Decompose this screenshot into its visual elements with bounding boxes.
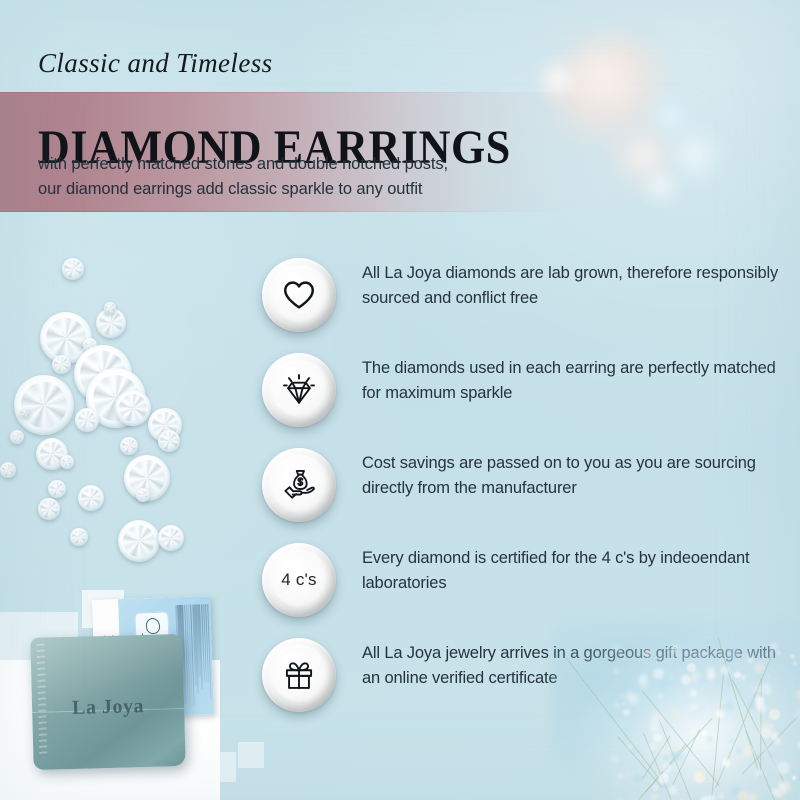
flower-blossom	[745, 749, 751, 755]
flower-blossom	[744, 747, 752, 755]
diamond-sparkle-icon	[279, 370, 319, 410]
flower-blossom	[657, 791, 667, 800]
flower-blossom	[673, 745, 679, 751]
flower-blossom	[660, 783, 667, 790]
flower-blossom	[796, 690, 800, 698]
flower-blossom	[746, 793, 758, 800]
flower-blossom	[755, 754, 761, 760]
flower-blossom	[693, 771, 705, 783]
band-bottom-edge	[0, 211, 520, 212]
flower-blossom	[774, 738, 781, 745]
flower-blossom	[709, 795, 715, 800]
four-cs-label: 4 c's	[281, 570, 316, 590]
gift-box-icon-badge	[262, 638, 336, 712]
flower-blossom	[616, 778, 621, 783]
diamond-gem-icon	[158, 525, 184, 551]
feature-text: All La Joya jewelry arrives in a gorgeou…	[362, 641, 782, 691]
flower-blossom	[794, 709, 800, 720]
flower-blossom	[772, 788, 780, 796]
heart-icon-badge	[262, 258, 336, 332]
flower-blossom	[757, 794, 761, 798]
diamond-gem-icon	[20, 408, 30, 418]
feature-row: 4 c's Every diamond is certified for the…	[262, 540, 792, 635]
flower-blossom	[660, 748, 666, 754]
diamond-gem-icon	[104, 302, 116, 314]
flower-stem	[646, 743, 687, 792]
flower-blossom	[701, 730, 706, 735]
flower-blossom	[777, 762, 789, 774]
diamond-gem-icon	[136, 488, 150, 502]
diamond-sparkle-icon-badge	[262, 353, 336, 427]
flower-blossom	[695, 773, 705, 783]
flower-stem	[745, 730, 777, 800]
flower-blossom	[699, 772, 705, 778]
flower-blossom	[633, 773, 643, 783]
diamond-gem-icon	[118, 520, 160, 562]
flower-blossom	[792, 776, 796, 780]
subtitle-line-1: with perfectly matched stones and double…	[38, 155, 448, 173]
flower-blossom	[651, 794, 657, 800]
diamond-gem-icon	[120, 437, 138, 455]
accent-square	[238, 742, 264, 768]
diamond-gem-icon	[60, 455, 74, 469]
flower-blossom	[700, 796, 711, 800]
flower-blossom	[795, 682, 798, 685]
flower-blossom	[778, 781, 790, 793]
flower-blossom	[670, 750, 681, 761]
flower-blossom	[675, 752, 687, 764]
flower-blossom	[777, 785, 783, 791]
heart-icon	[280, 276, 318, 314]
feature-text: All La Joya diamonds are lab grown, ther…	[362, 261, 782, 311]
packaging-photo: La Joya La Joya	[18, 598, 230, 778]
gift-box-icon	[280, 656, 318, 694]
diamond-gem-icon	[115, 390, 151, 426]
flower-blossom	[653, 733, 662, 742]
diamond-gem-icon	[75, 408, 99, 432]
flower-blossom	[715, 790, 724, 799]
flower-blossom	[669, 786, 677, 794]
flower-blossom	[694, 784, 700, 790]
flower-blossom	[627, 744, 633, 750]
band-top-edge	[0, 92, 520, 93]
jewelry-pouch: La Joya	[30, 634, 185, 770]
flower-blossom	[625, 773, 628, 776]
feature-text: Cost savings are passed on to you as you…	[362, 451, 782, 501]
feature-row: All La Joya diamonds are lab grown, ther…	[262, 255, 792, 350]
diamond-gem-icon	[62, 258, 84, 280]
feature-text: Every diamond is certified for the 4 c's…	[362, 546, 782, 596]
diamond-gem-icon	[14, 375, 74, 435]
diamond-gem-icon	[38, 498, 60, 520]
diamond-gem-icon	[0, 462, 16, 478]
flower-blossom	[617, 773, 623, 779]
flower-blossom	[649, 743, 656, 750]
flower-blossom	[707, 737, 713, 743]
flower-blossom	[755, 769, 762, 776]
flower-blossom	[736, 748, 741, 753]
flower-blossom	[732, 787, 739, 794]
flower-stem	[617, 736, 662, 787]
feature-row: The diamonds used in each earring are pe…	[262, 350, 792, 445]
flower-blossom	[764, 747, 769, 752]
hand-money-bag-icon	[279, 465, 319, 505]
flower-blossom	[663, 755, 670, 762]
flower-blossom	[641, 779, 646, 784]
flower-blossom	[757, 732, 760, 735]
diamond-gem-icon	[78, 485, 104, 511]
feature-row: All La Joya jewelry arrives in a gorgeou…	[262, 635, 792, 730]
product-infographic: Classic and Timeless DIAMOND EARRINGS wi…	[0, 0, 800, 800]
feature-list: All La Joya diamonds are lab grown, ther…	[262, 255, 792, 730]
flower-blossom	[658, 773, 669, 784]
flower-stem	[642, 736, 670, 780]
four-cs-text-icon-badge: 4 c's	[262, 543, 336, 617]
eyebrow-text: Classic and Timeless	[38, 48, 273, 79]
flower-blossom	[611, 755, 619, 763]
flower-blossom	[729, 738, 735, 744]
flower-stem	[642, 733, 671, 800]
flower-blossom	[688, 738, 692, 742]
diamond-gem-icon	[158, 430, 180, 452]
flower-blossom	[775, 790, 784, 799]
flower-blossom	[662, 763, 673, 774]
flower-blossom	[738, 791, 748, 800]
diamond-gem-icon	[70, 528, 88, 546]
flower-blossom	[632, 747, 636, 751]
flower-blossom	[722, 759, 730, 767]
flower-blossom	[653, 785, 659, 791]
flower-blossom	[793, 662, 796, 665]
diamond-cluster	[0, 240, 250, 560]
pouch-logo-text: La Joya	[72, 695, 144, 720]
subtitle: with perfectly matched stones and double…	[38, 152, 578, 202]
flower-blossom	[767, 758, 778, 769]
diamond-gem-icon	[48, 480, 66, 498]
hand-money-bag-icon-badge	[262, 448, 336, 522]
flower-blossom	[795, 639, 799, 643]
feature-text: The diamonds used in each earring are pe…	[362, 356, 782, 406]
diamond-gem-icon	[52, 355, 71, 374]
flower-stem	[672, 729, 700, 786]
flower-stem	[658, 719, 695, 800]
subtitle-line-2: our diamond earrings add classic sparkle…	[38, 180, 422, 198]
flower-blossom	[771, 732, 778, 739]
feature-row: Cost savings are passed on to you as you…	[262, 445, 792, 540]
flower-blossom	[718, 793, 724, 799]
diamond-gem-icon	[10, 430, 24, 444]
